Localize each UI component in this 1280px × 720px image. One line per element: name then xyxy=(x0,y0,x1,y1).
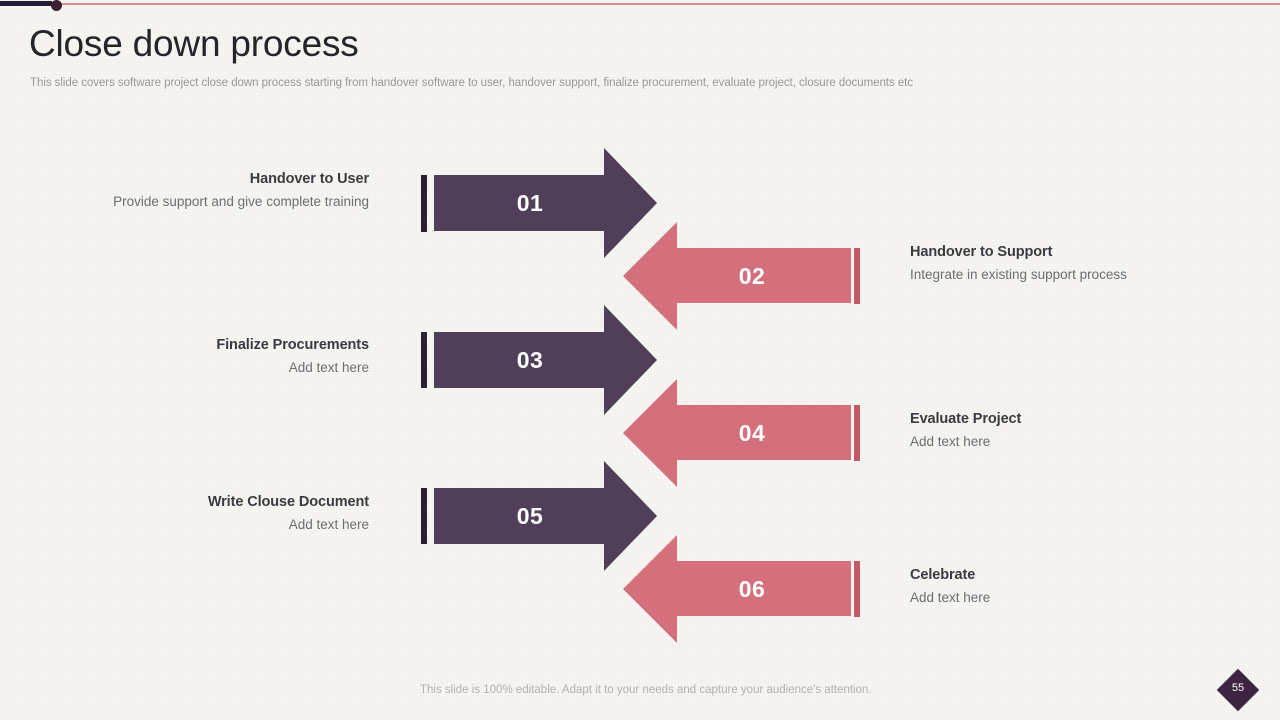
step-02-accent-bar xyxy=(854,248,860,304)
step-06-title: Celebrate xyxy=(910,566,1170,585)
step-05-title: Write Clouse Document xyxy=(109,493,369,512)
step-01-text-block[interactable]: Handover to User Provide support and giv… xyxy=(109,170,369,212)
step-05-number: 05 xyxy=(500,503,560,530)
step-05-accent-bar xyxy=(421,488,427,544)
step-03-accent-bar xyxy=(421,332,427,388)
step-01-title: Handover to User xyxy=(109,170,369,189)
slide-canvas: Close down process This slide covers sof… xyxy=(0,0,1280,720)
step-02-number: 02 xyxy=(722,263,782,290)
step-04-accent-bar xyxy=(854,405,860,461)
step-06-accent-bar xyxy=(854,561,860,617)
step-04-title: Evaluate Project xyxy=(910,410,1170,429)
step-04-text-block[interactable]: Evaluate Project Add text here xyxy=(910,410,1170,452)
step-02-title: Handover to Support xyxy=(910,243,1170,262)
step-03-description: Add text here xyxy=(109,358,369,378)
step-04-description: Add text here xyxy=(910,432,1170,452)
step-06-text-block[interactable]: Celebrate Add text here xyxy=(910,566,1170,608)
step-05-text-block[interactable]: Write Clouse Document Add text here xyxy=(109,493,369,535)
step-02-text-block[interactable]: Handover to Support Integrate in existin… xyxy=(910,243,1170,285)
step-06-number: 06 xyxy=(722,576,782,603)
step-01-number: 01 xyxy=(500,190,560,217)
step-03-number: 03 xyxy=(500,347,560,374)
step-03-title: Finalize Procurements xyxy=(109,336,369,355)
step-02-description: Integrate in existing support process xyxy=(910,265,1170,285)
step-06-description: Add text here xyxy=(910,588,1170,608)
page-number-label: 55 xyxy=(1223,682,1253,698)
step-05-description: Add text here xyxy=(109,515,369,535)
step-01-description: Provide support and give complete traini… xyxy=(109,192,369,212)
step-01-accent-bar xyxy=(421,175,427,232)
step-03-text-block[interactable]: Finalize Procurements Add text here xyxy=(109,336,369,378)
step-04-number: 04 xyxy=(722,420,782,447)
footer-note: This slide is 100% editable. Adapt it to… xyxy=(420,684,872,696)
